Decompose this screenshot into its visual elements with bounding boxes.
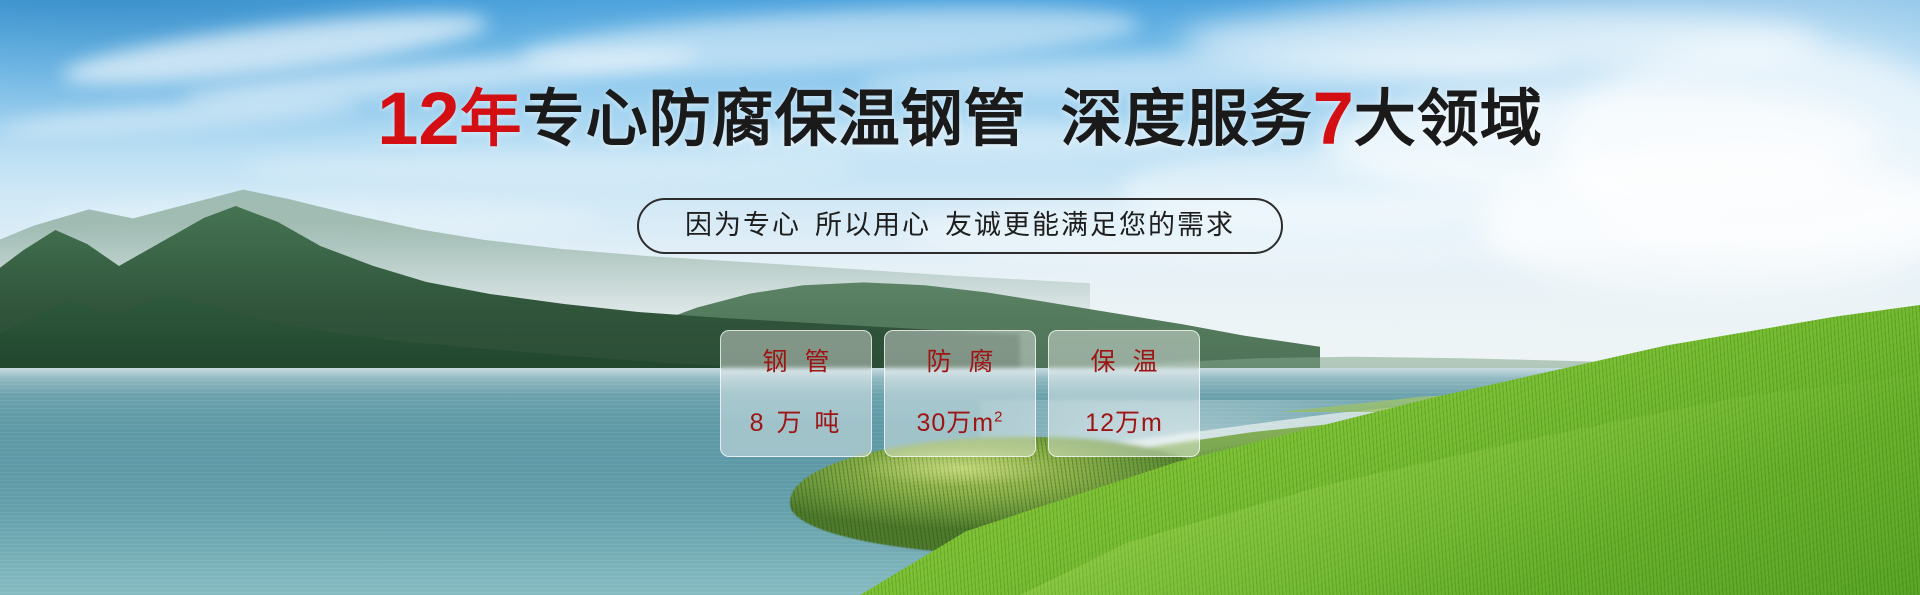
headline-segment-three: 大领域 <box>1354 85 1543 154</box>
subtitle-pill: 因为专心所以用心友诚更能满足您的需求 <box>637 198 1283 254</box>
subtitle-container: 因为专心所以用心友诚更能满足您的需求 <box>0 198 1920 254</box>
headline: 12年专心防腐保温钢管深度服务7大领域 <box>0 88 1920 151</box>
stat-card-label: 保 温 <box>1086 348 1163 376</box>
stat-card-value: 8 万 吨 <box>750 409 843 437</box>
stat-card-value: 12万m <box>1085 409 1163 437</box>
stat-card-value-superscript: 2 <box>994 409 1003 426</box>
stat-card-group: 钢 管 8 万 吨 防 腐 30万m2 保 温 12万m <box>0 330 1920 457</box>
stat-card-label: 防 腐 <box>922 348 999 376</box>
stat-card-value: 30万m2 <box>917 409 1004 437</box>
headline-years-unit: 年 <box>460 85 523 154</box>
stat-card-insulation: 保 温 12万m <box>1048 330 1200 457</box>
stat-card-label: 钢 管 <box>758 348 835 376</box>
headline-segment-one: 专心防腐保温钢管 <box>523 85 1027 154</box>
stat-card-value-main: 12万m <box>1085 409 1163 437</box>
subtitle-part-one: 因为专心 <box>685 210 801 240</box>
headline-fields-number: 7 <box>1313 77 1354 160</box>
subtitle-part-two: 所以用心 <box>815 210 931 240</box>
stat-card-steel-pipe: 钢 管 8 万 吨 <box>720 330 872 457</box>
headline-segment-two: 深度服务 <box>1061 85 1313 154</box>
subtitle-part-three: 友诚更能满足您的需求 <box>945 210 1235 240</box>
stat-card-anticorrosion: 防 腐 30万m2 <box>884 330 1036 457</box>
stat-card-value-main: 30万m <box>917 409 995 437</box>
banner-content: 12年专心防腐保温钢管深度服务7大领域 因为专心所以用心友诚更能满足您的需求 钢… <box>0 0 1920 595</box>
stat-card-value-main: 8 万 吨 <box>750 409 843 437</box>
headline-years-number: 12 <box>377 77 459 160</box>
promotional-banner: 12年专心防腐保温钢管深度服务7大领域 因为专心所以用心友诚更能满足您的需求 钢… <box>0 0 1920 595</box>
